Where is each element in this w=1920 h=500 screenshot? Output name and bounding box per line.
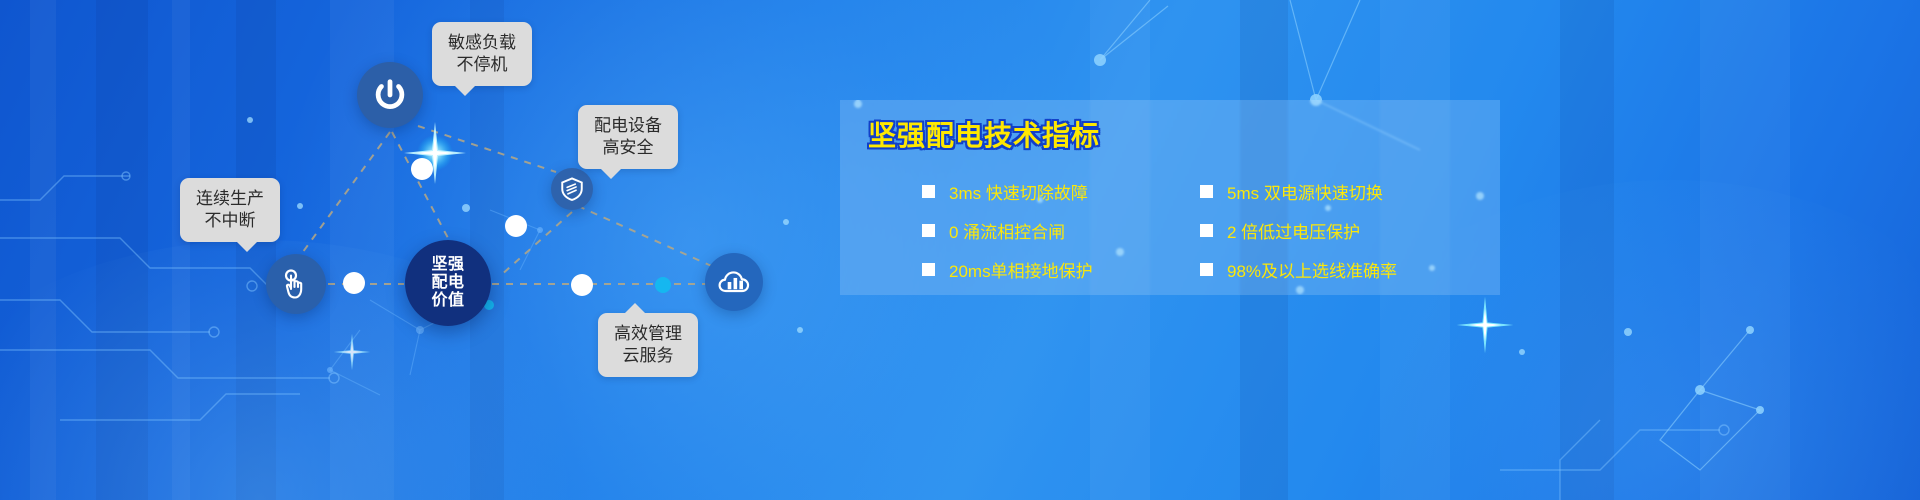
spec-text: 2 倍低过电压保护	[1227, 218, 1360, 243]
banner-root: 坚强 配电 价值 敏感负载 不停机 配电设备 高安全 连续生产 不中断 高效管理…	[0, 0, 1920, 500]
spec-item: 3ms 快速切除故障	[922, 179, 1200, 204]
bg-band	[172, 0, 190, 500]
spec-grid: 3ms 快速切除故障 5ms 双电源快速切换 0 涌流相控合闸 2 倍低过电压保…	[922, 172, 1502, 289]
node-hand-touch[interactable]	[266, 254, 326, 314]
spec-text: 3ms 快速切除故障	[949, 179, 1088, 204]
connector-dot	[343, 272, 365, 294]
node-shield[interactable]	[551, 168, 593, 210]
bullet-square-icon	[922, 263, 935, 276]
sparkle-icon	[400, 118, 470, 188]
tech-spec-panel: 坚强配电技术指标 3ms 快速切除故障 5ms 双电源快速切换 0 涌流相控合闸…	[840, 100, 1500, 295]
power-button-icon	[371, 76, 409, 114]
bullet-square-icon	[1200, 224, 1213, 237]
panel-title: 坚强配电技术指标	[868, 114, 1100, 154]
bg-band	[1700, 0, 1790, 500]
bullet-square-icon	[1200, 185, 1213, 198]
callout-line: 不停机	[448, 54, 516, 76]
callout-line: 敏感负载	[448, 32, 516, 54]
callout-line: 连续生产	[196, 188, 264, 210]
callout-line: 配电设备	[594, 115, 662, 137]
connector-dot	[505, 215, 527, 237]
hand-pointer-icon	[279, 267, 313, 301]
spec-text: 5ms 双电源快速切换	[1227, 179, 1383, 204]
spec-item: 5ms 双电源快速切换	[1200, 179, 1478, 204]
bg-band	[30, 0, 56, 500]
spec-item: 0 涌流相控合闸	[922, 218, 1200, 243]
cloud-bar-chart-icon	[716, 264, 752, 300]
callout-sensitive-load: 敏感负载 不停机	[432, 22, 532, 86]
spec-text: 20ms单相接地保护	[949, 257, 1093, 282]
bg-band	[96, 0, 148, 500]
node-cloud-chart[interactable]	[705, 253, 763, 311]
spec-item: 20ms单相接地保护	[922, 257, 1200, 282]
bg-band	[1560, 0, 1614, 500]
spec-item: 98%及以上选线准确率	[1200, 257, 1478, 282]
connector-dot	[571, 274, 593, 296]
connector-dot	[655, 277, 671, 293]
spec-text: 98%及以上选线准确率	[1227, 257, 1397, 282]
sparkle-icon	[330, 330, 374, 374]
center-value-circle: 坚强 配电 价值	[405, 240, 491, 326]
spec-item: 2 倍低过电压保护	[1200, 218, 1478, 243]
bullet-square-icon	[1200, 263, 1213, 276]
bullet-square-icon	[922, 224, 935, 237]
bullet-square-icon	[922, 185, 935, 198]
callout-line: 高安全	[594, 137, 662, 159]
callout-cloud-service: 高效管理 云服务	[598, 313, 698, 377]
spec-text: 0 涌流相控合闸	[949, 218, 1065, 243]
connector-dot	[411, 158, 433, 180]
callout-line: 高效管理	[614, 323, 682, 345]
callout-line: 云服务	[614, 345, 682, 367]
callout-power-equipment: 配电设备 高安全	[578, 105, 678, 169]
node-power[interactable]	[357, 62, 423, 128]
sparkle-icon	[1455, 295, 1515, 355]
callout-continuous-production: 连续生产 不中断	[180, 178, 280, 242]
center-line-1: 坚强	[431, 256, 464, 274]
shield-icon	[559, 176, 585, 202]
center-line-2: 配电	[431, 274, 464, 292]
center-line-3: 价值	[431, 292, 464, 310]
callout-line: 不中断	[196, 210, 264, 232]
